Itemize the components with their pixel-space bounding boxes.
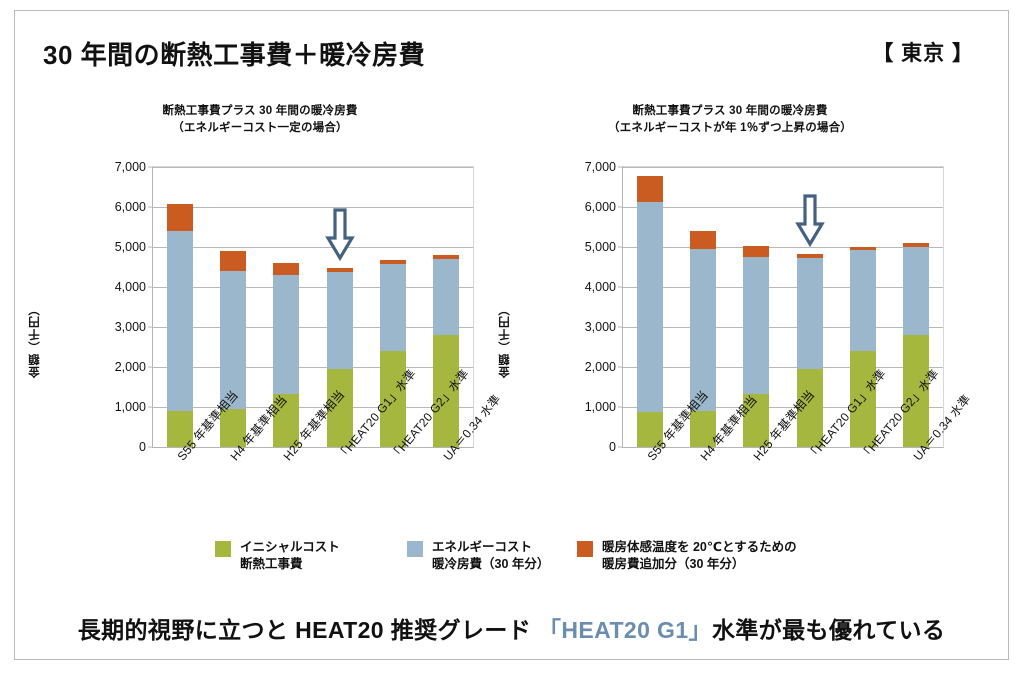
legend-label: 暖房体感温度を 20℃とするための暖房費追加分（30 年分）: [602, 539, 797, 573]
bar-segment[interactable]: [380, 260, 406, 264]
bar-segment[interactable]: [637, 202, 663, 412]
footer-text-highlight: 「HEAT20 G1」: [538, 617, 712, 643]
bar-segment[interactable]: [433, 259, 459, 335]
bar-stack[interactable]: [637, 167, 663, 447]
slide-canvas: 30 年間の断熱工事費＋暖冷房費 【 東京 】 断熱工事費プラス 30 年間の暖…: [14, 10, 1009, 660]
y-axis-tick-label: 6,000: [115, 200, 146, 214]
footer-text-after: 水準が最も優れている: [712, 617, 945, 643]
y-axis-tick-label: 0: [139, 440, 146, 454]
y-axis-tick-label: 5,000: [585, 240, 616, 254]
down-arrow-icon: [795, 194, 825, 250]
chart-right-y-axis-title: 金額（千円）: [497, 303, 513, 378]
bar-segment[interactable]: [220, 271, 246, 409]
chart-right-plot-wrap: 金額（千円） 01,0002,0003,0004,0005,0006,0007,…: [495, 155, 965, 529]
bar-segment[interactable]: [637, 176, 663, 202]
page-title: 30 年間の断熱工事費＋暖冷房費: [43, 35, 425, 72]
bar-segment[interactable]: [903, 247, 929, 335]
legend-label-line2: 断熱工事費: [240, 556, 340, 573]
region-badge: 【 東京 】: [872, 37, 974, 67]
chart-left-title: 断熱工事費プラス 30 年間の暖冷房費 （エネルギーコスト一定の場合）: [25, 103, 495, 137]
legend-label-line2: 暖房費追加分（30 年分）: [602, 556, 797, 573]
legend-item[interactable]: 暖房体感温度を 20℃とするための暖房費追加分（30 年分）: [577, 539, 797, 573]
charts-row: 断熱工事費プラス 30 年間の暖冷房費 （エネルギーコスト一定の場合） 金額（千…: [15, 99, 1008, 529]
bar-segment[interactable]: [690, 249, 716, 411]
footer-text-before: 長期的視野に立つと HEAT20 推奨グレード: [78, 617, 538, 643]
down-arrow-icon: [325, 208, 355, 264]
bar-segment[interactable]: [327, 268, 353, 272]
bar-segment[interactable]: [743, 246, 769, 257]
bar-segment[interactable]: [327, 272, 353, 369]
y-axis-tick-label: 4,000: [585, 280, 616, 294]
bar-segment[interactable]: [903, 243, 929, 246]
y-axis-tick-label: 3,000: [115, 320, 146, 334]
legend-label: エネルギーコスト暖冷房費（30 年分）: [432, 539, 549, 573]
y-axis-tick-label: 1,000: [585, 400, 616, 414]
legend-color-swatch: [215, 541, 231, 557]
bar-segment[interactable]: [433, 255, 459, 259]
bar-segment[interactable]: [690, 231, 716, 249]
legend-label-line1: 暖房体感温度を 20℃とするための: [602, 540, 797, 554]
bar-segment[interactable]: [797, 258, 823, 369]
bar-segment[interactable]: [380, 264, 406, 351]
legend-item[interactable]: エネルギーコスト暖冷房費（30 年分）: [407, 539, 549, 573]
bar-segment[interactable]: [850, 250, 876, 351]
chart-left-plot-wrap: 金額（千円） 01,0002,0003,0004,0005,0006,0007,…: [25, 155, 495, 529]
bar-segment[interactable]: [743, 257, 769, 394]
y-axis-tick-label: 1,000: [115, 400, 146, 414]
y-axis-tick-label: 5,000: [115, 240, 146, 254]
bar-segment[interactable]: [797, 254, 823, 258]
legend-label: イニシャルコスト断熱工事費: [240, 539, 340, 573]
bar-segment[interactable]: [167, 231, 193, 411]
bar-segment[interactable]: [167, 204, 193, 231]
legend-label-line2: 暖冷房費（30 年分）: [432, 556, 549, 573]
bar-stack[interactable]: [167, 167, 193, 447]
chart-legend: イニシャルコスト断熱工事費エネルギーコスト暖冷房費（30 年分）暖房体感温度を …: [15, 539, 1008, 595]
bar-segment[interactable]: [850, 247, 876, 250]
y-axis-tick-label: 2,000: [115, 360, 146, 374]
y-axis-tick-label: 2,000: [585, 360, 616, 374]
y-axis-tick-label: 7,000: [115, 160, 146, 174]
y-axis-tick-label: 3,000: [585, 320, 616, 334]
y-axis-tick-label: 6,000: [585, 200, 616, 214]
legend-label-line1: イニシャルコスト: [240, 540, 340, 554]
legend-color-swatch: [577, 541, 593, 557]
y-axis-tick-label: 4,000: [115, 280, 146, 294]
y-axis-tick-label: 7,000: [585, 160, 616, 174]
legend-color-swatch: [407, 541, 423, 557]
bar-segment[interactable]: [273, 275, 299, 394]
footer-caption: 長期的視野に立つと HEAT20 推奨グレード 「HEAT20 G1」水準が最も…: [15, 611, 1008, 645]
chart-right-title: 断熱工事費プラス 30 年間の暖冷房費 （エネルギーコストが年 1％ずつ上昇の場…: [495, 103, 965, 137]
slide-header: 30 年間の断熱工事費＋暖冷房費 【 東京 】: [15, 35, 1008, 83]
bar-segment[interactable]: [273, 263, 299, 275]
chart-left-y-axis-title: 金額（千円）: [27, 303, 43, 378]
legend-label-line1: エネルギーコスト: [432, 540, 532, 554]
chart-right-title-line2: （エネルギーコストが年 1％ずつ上昇の場合）: [495, 120, 965, 137]
chart-panel-right: 断熱工事費プラス 30 年間の暖冷房費 （エネルギーコストが年 1％ずつ上昇の場…: [495, 99, 965, 529]
chart-left-title-line1: 断熱工事費プラス 30 年間の暖冷房費: [162, 105, 357, 117]
bar-segment[interactable]: [220, 251, 246, 271]
chart-left-title-line2: （エネルギーコスト一定の場合）: [25, 120, 495, 137]
chart-right-title-line1: 断熱工事費プラス 30 年間の暖冷房費: [632, 105, 827, 117]
y-axis-tick-label: 0: [609, 440, 616, 454]
legend-item[interactable]: イニシャルコスト断熱工事費: [215, 539, 340, 573]
chart-panel-left: 断熱工事費プラス 30 年間の暖冷房費 （エネルギーコスト一定の場合） 金額（千…: [25, 99, 495, 529]
